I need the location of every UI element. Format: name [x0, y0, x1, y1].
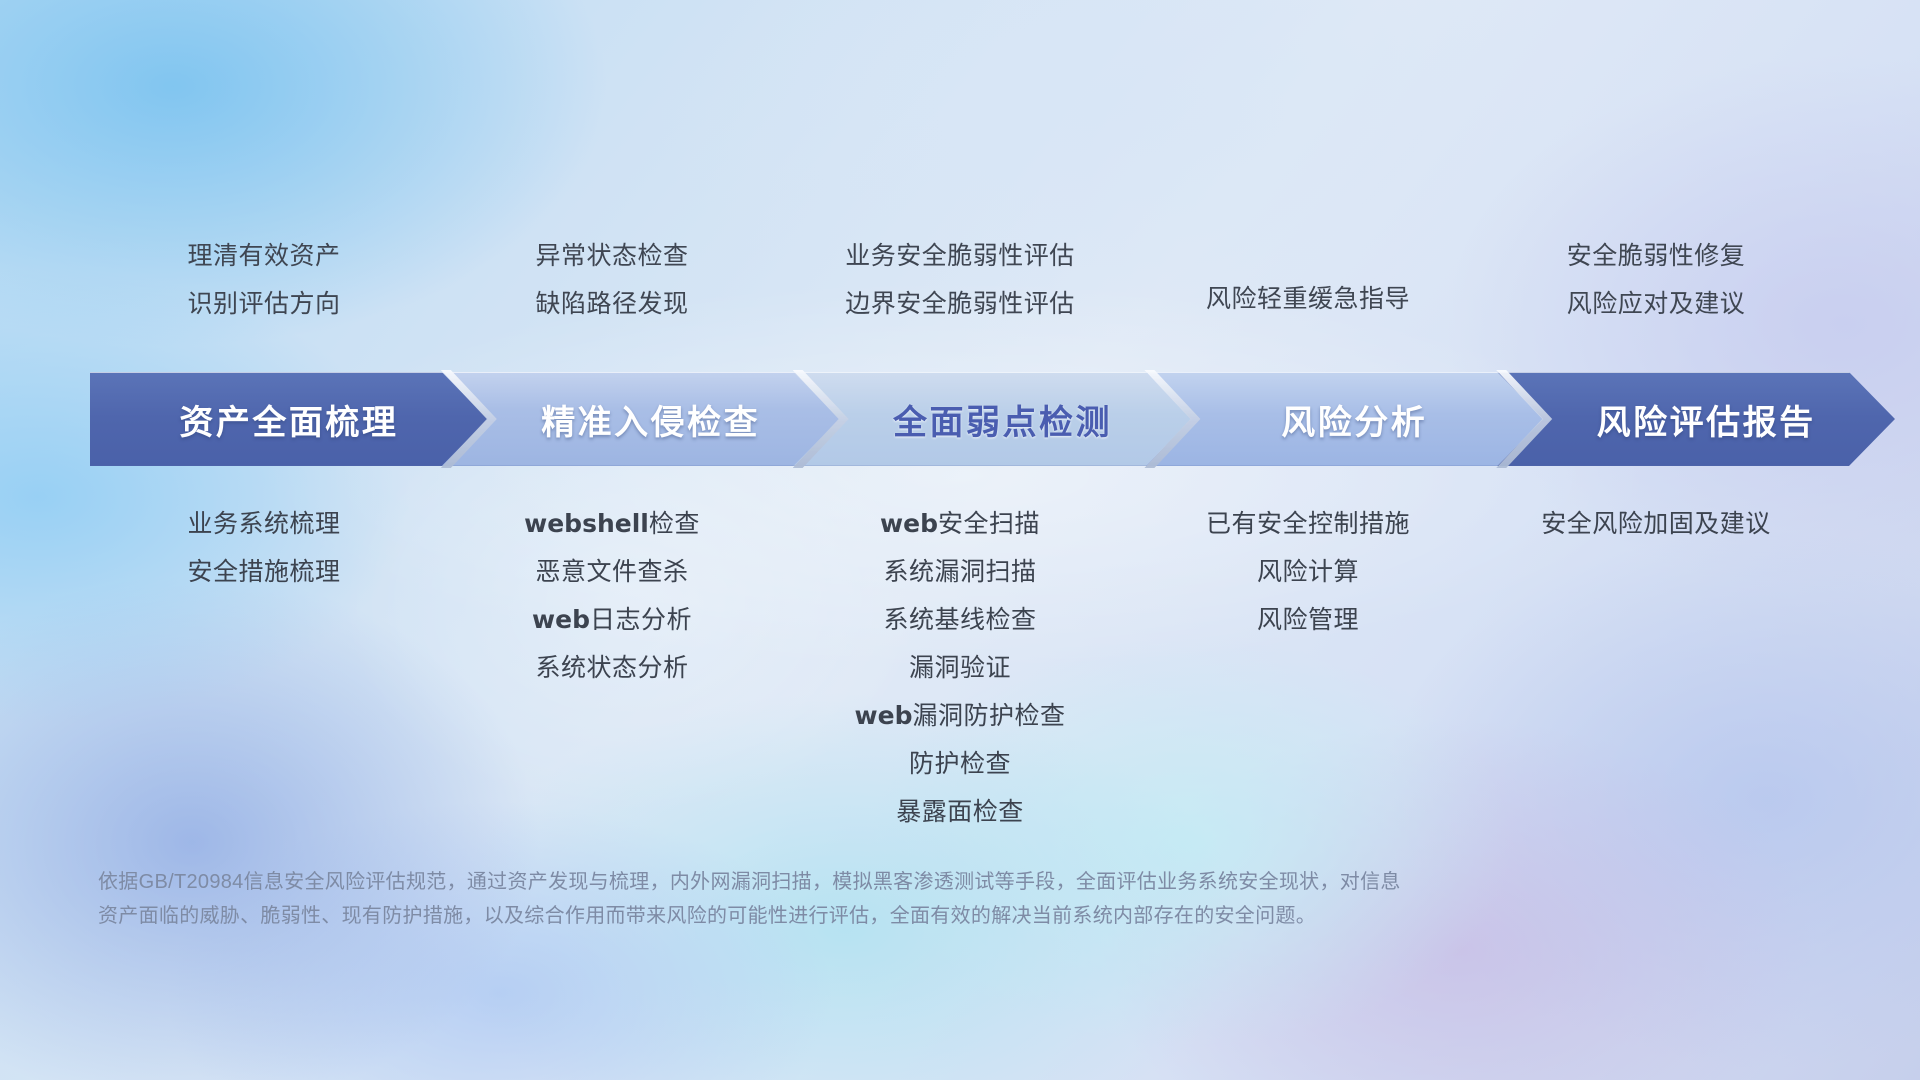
stage-tasks-row: 业务系统梳理安全措施梳理webshell检查恶意文件查杀web日志分析系统状态分…: [90, 500, 1830, 836]
outcome-item: 缺陷路径发现: [535, 280, 688, 328]
stage-title: 风险评估报告: [1597, 395, 1816, 444]
task-item: 系统基线检查: [883, 596, 1036, 644]
stage-title: 精准入侵检查: [541, 395, 760, 444]
outcome-group-asset-review: 理清有效资产识别评估方向: [90, 232, 438, 342]
outcome-group-weakness-detection: 业务安全脆弱性评估边界安全脆弱性评估: [786, 232, 1134, 342]
stage-chevron-risk-analysis[interactable]: 风险分析: [1145, 372, 1543, 466]
outcome-item: 风险轻重缓急指导: [1206, 275, 1410, 323]
task-item: 安全措施梳理: [187, 548, 340, 596]
task-label: 检查: [649, 510, 700, 538]
task-item: 漏洞验证: [909, 644, 1011, 692]
outcome-item: 风险应对及建议: [1567, 280, 1746, 328]
task-label: 系统状态分析: [535, 654, 688, 682]
task-item: web漏洞防护检查: [855, 692, 1066, 740]
task-item: 防护检查: [909, 740, 1011, 788]
stage-title: 资产全面梳理: [179, 395, 398, 444]
task-label: 风险计算: [1257, 558, 1359, 586]
stage-chevron-asset-review[interactable]: 资产全面梳理: [90, 372, 488, 466]
task-latin-prefix: web: [532, 605, 590, 634]
task-item: 安全风险加固及建议: [1541, 500, 1771, 548]
task-latin-prefix: web: [880, 509, 938, 538]
stage-banner: 资产全面梳理精准入侵检查全面弱点检测风险分析风险评估报告: [90, 372, 1895, 466]
task-group-weakness-detection: web安全扫描系统漏洞扫描系统基线检查漏洞验证web漏洞防护检查防护检查暴露面检…: [786, 500, 1134, 836]
footer-line-2: 资产面临的威胁、脆弱性、现有防护措施，以及综合作用而带来风险的可能性进行评估，全…: [98, 899, 1638, 933]
task-item: web日志分析: [532, 596, 692, 644]
task-label: 风险管理: [1257, 606, 1359, 634]
task-label: 已有安全控制措施: [1206, 510, 1410, 538]
outcome-item: 业务安全脆弱性评估: [845, 232, 1075, 280]
task-latin-prefix: webshell: [524, 509, 649, 538]
outcome-item: 安全脆弱性修复: [1567, 232, 1746, 280]
task-item: web安全扫描: [880, 500, 1040, 548]
task-label: 恶意文件查杀: [535, 558, 688, 586]
outcome-group-intrusion-check: 异常状态检查缺陷路径发现: [438, 232, 786, 342]
stage-outcomes-row: 理清有效资产识别评估方向异常状态检查缺陷路径发现业务安全脆弱性评估边界安全脆弱性…: [90, 232, 1830, 342]
task-latin-prefix: web: [855, 701, 913, 730]
task-label: 安全扫描: [938, 510, 1040, 538]
task-label: 系统漏洞扫描: [883, 558, 1036, 586]
outcome-group-risk-report: 安全脆弱性修复风险应对及建议: [1482, 232, 1830, 342]
task-item: 风险计算: [1257, 548, 1359, 596]
stage-chevron-risk-report[interactable]: 风险评估报告: [1497, 372, 1895, 466]
task-item: 暴露面检查: [896, 788, 1024, 836]
task-group-intrusion-check: webshell检查恶意文件查杀web日志分析系统状态分析: [438, 500, 786, 692]
outcome-group-risk-analysis: 风险轻重缓急指导: [1134, 232, 1482, 342]
task-label: 安全风险加固及建议: [1541, 510, 1771, 538]
task-group-asset-review: 业务系统梳理安全措施梳理: [90, 500, 438, 596]
task-item: 系统漏洞扫描: [883, 548, 1036, 596]
outcome-item: 理清有效资产: [187, 232, 340, 280]
outcome-item: 边界安全脆弱性评估: [845, 280, 1075, 328]
outcome-item: 识别评估方向: [187, 280, 340, 328]
process-diagram: 理清有效资产识别评估方向异常状态检查缺陷路径发现业务安全脆弱性评估边界安全脆弱性…: [0, 0, 1920, 1080]
stage-chevron-weakness-detection[interactable]: 全面弱点检测: [794, 372, 1192, 466]
task-item: webshell检查: [524, 500, 700, 548]
task-label: 暴露面检查: [896, 798, 1024, 826]
task-item: 风险管理: [1257, 596, 1359, 644]
task-label: 漏洞验证: [909, 654, 1011, 682]
task-item: 业务系统梳理: [187, 500, 340, 548]
task-label: 安全措施梳理: [187, 558, 340, 586]
task-group-risk-analysis: 已有安全控制措施风险计算风险管理: [1134, 500, 1482, 644]
task-group-risk-report: 安全风险加固及建议: [1482, 500, 1830, 548]
stage-chevron-intrusion-check[interactable]: 精准入侵检查: [442, 372, 840, 466]
footer-description: 依据GB/T20984信息安全风险评估规范，通过资产发现与梳理，内外网漏洞扫描，…: [98, 865, 1638, 933]
task-label: 漏洞防护检查: [912, 702, 1065, 730]
task-item: 已有安全控制措施: [1206, 500, 1410, 548]
task-label: 防护检查: [909, 750, 1011, 778]
footer-line-1: 依据GB/T20984信息安全风险评估规范，通过资产发现与梳理，内外网漏洞扫描，…: [98, 865, 1638, 899]
outcome-item: 异常状态检查: [535, 232, 688, 280]
stage-title: 风险分析: [1281, 395, 1427, 444]
task-label: 业务系统梳理: [187, 510, 340, 538]
task-item: 恶意文件查杀: [535, 548, 688, 596]
stage-title: 全面弱点检测: [893, 395, 1112, 444]
task-item: 系统状态分析: [535, 644, 688, 692]
task-label: 系统基线检查: [883, 606, 1036, 634]
task-label: 日志分析: [590, 606, 692, 634]
